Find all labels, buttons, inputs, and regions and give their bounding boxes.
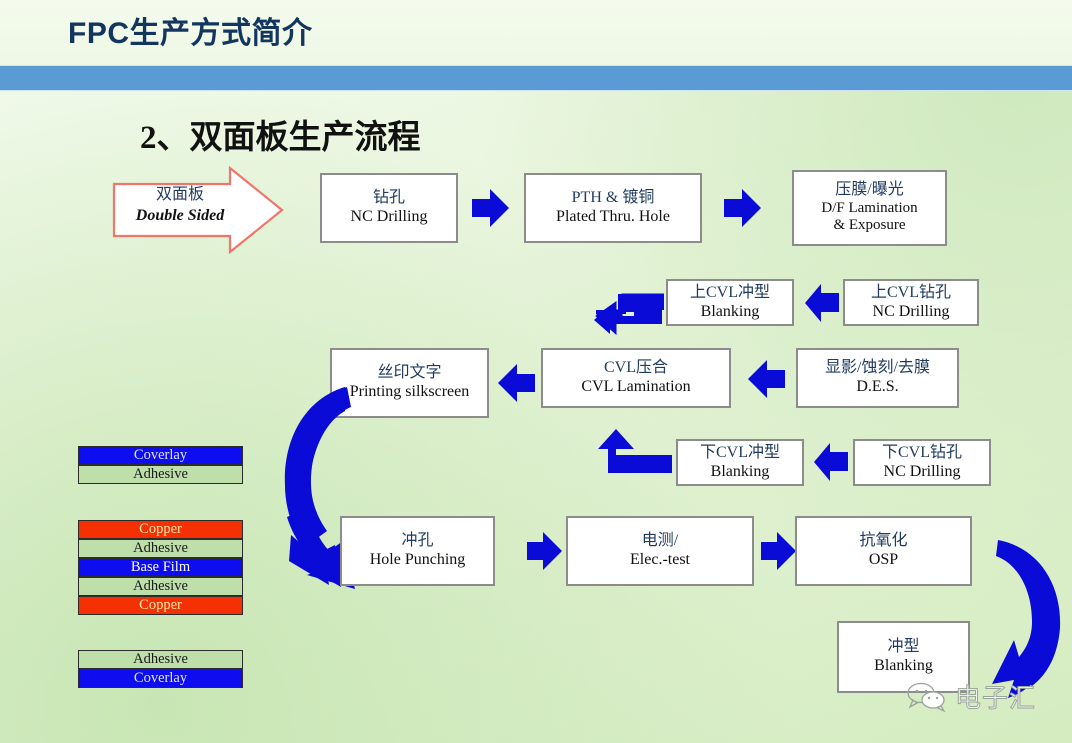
- step-label-en: NC Drilling: [884, 463, 961, 482]
- step-label-en: Blanking: [711, 463, 770, 482]
- step-nc-drilling[interactable]: 钻孔 NC Drilling: [320, 173, 458, 243]
- step-label-cn: 显影/蚀刻/去膜: [825, 359, 930, 378]
- step-lower-cvl-blanking[interactable]: 下CVL冲型 Blanking: [676, 439, 804, 486]
- step-label-en: D.E.S.: [856, 378, 898, 397]
- arrow-left-4: [812, 441, 852, 483]
- layer-stack-top-group: Coverlay Adhesive: [78, 446, 243, 484]
- step-lower-cvl-nc-drilling[interactable]: 下CVL钻孔 NC Drilling: [853, 439, 991, 486]
- arrow-right-2: [720, 186, 764, 230]
- step-label-en: Elec.-test: [630, 551, 690, 570]
- start-arrow-label-en: Double Sided: [120, 207, 240, 225]
- step-label-cn: 电测/: [642, 532, 678, 551]
- step-label-cn: 丝印文字: [377, 364, 441, 383]
- step-label-cn: 钻孔: [373, 189, 405, 208]
- arrow-right-4: [757, 529, 799, 573]
- arrow-left-2: [495, 361, 539, 405]
- header-accent-bar: [0, 66, 1072, 90]
- layer-item: Adhesive: [78, 650, 243, 669]
- step-elec-test[interactable]: 电测/ Elec.-test: [566, 516, 754, 586]
- step-label-cn: 上CVL钻孔: [871, 284, 951, 303]
- step-label-cn: 压膜/曝光: [835, 181, 903, 200]
- step-label-cn: 下CVL钻孔: [882, 444, 962, 463]
- step-cvl-lamination[interactable]: CVL压合 CVL Lamination: [541, 348, 731, 408]
- arrow-elbow-down-left-shape: [592, 290, 666, 338]
- step-label-en: Plated Thru. Hole: [556, 208, 670, 227]
- step-des[interactable]: 显影/蚀刻/去膜 D.E.S.: [796, 348, 959, 408]
- step-label-cn: 冲型: [887, 638, 919, 657]
- layer-item: Adhesive: [78, 539, 243, 558]
- step-hole-punching[interactable]: 冲孔 Hole Punching: [340, 516, 495, 586]
- layer-item: Copper: [78, 596, 243, 615]
- wechat-icon: [905, 682, 951, 712]
- layer-stack-bottom-group: Adhesive Coverlay: [78, 650, 243, 688]
- step-label-en: CVL Lamination: [581, 378, 690, 397]
- arrow-curve-right-down: [962, 540, 1070, 700]
- section-heading: 2、双面板生产流程: [140, 110, 421, 158]
- step-upper-cvl-blanking[interactable]: 上CVL冲型 Blanking: [666, 279, 794, 326]
- arrow-left-3: [745, 357, 789, 401]
- step-upper-cvl-nc-drilling[interactable]: 上CVL钻孔 NC Drilling: [843, 279, 979, 326]
- step-label-cn: PTH & 镀铜: [572, 189, 655, 208]
- step-label-en: NC Drilling: [873, 303, 950, 322]
- watermark: 电子汇: [905, 678, 1036, 715]
- layer-item: Coverlay: [78, 669, 243, 688]
- start-arrow-double-sided: 双面板 Double Sided: [112, 166, 284, 254]
- layer-item: Adhesive: [78, 465, 243, 484]
- step-label-en: Blanking: [874, 657, 933, 676]
- start-arrow-label: 双面板 Double Sided: [120, 180, 240, 225]
- layer-item: Coverlay: [78, 446, 243, 465]
- layer-item: Base Film: [78, 558, 243, 577]
- step-label-en: Blanking: [701, 303, 760, 322]
- arrow-elbow-up-left: [594, 427, 674, 477]
- arrow-left-1: [803, 282, 843, 324]
- page-title-latin: FPC: [68, 17, 130, 50]
- layer-item: Copper: [78, 520, 243, 539]
- arrow-right-3: [523, 529, 565, 573]
- page-title: FPC生产方式简介: [68, 8, 313, 52]
- step-label-en: OSP: [869, 551, 898, 570]
- step-label-en: NC Drilling: [351, 208, 428, 227]
- step-label-cn: 上CVL冲型: [690, 284, 770, 303]
- step-label-en: D/F Lamination: [821, 200, 917, 218]
- step-df-lamination-exposure[interactable]: 压膜/曝光 D/F Lamination & Exposure: [792, 170, 947, 246]
- arrow-right-1: [468, 186, 512, 230]
- page-title-cn: 生产方式简介: [130, 17, 313, 50]
- layer-stack-middle-group: Copper Adhesive Base Film Adhesive Coppe…: [78, 520, 243, 615]
- step-osp[interactable]: 抗氧化 OSP: [795, 516, 972, 586]
- slide-canvas: FPC生产方式简介 2、双面板生产流程 双面板 Double Sided 钻孔 …: [0, 0, 1072, 743]
- step-label-cn: 抗氧化: [859, 532, 907, 551]
- step-label-en-2: & Exposure: [833, 217, 905, 235]
- layer-item: Adhesive: [78, 577, 243, 596]
- step-label-en: Hole Punching: [370, 551, 466, 570]
- step-label-cn: 下CVL冲型: [700, 444, 780, 463]
- step-plated-thru-hole[interactable]: PTH & 镀铜 Plated Thru. Hole: [524, 173, 702, 243]
- watermark-text: 电子汇: [955, 678, 1036, 715]
- start-arrow-label-cn: 双面板: [120, 180, 240, 204]
- step-label-cn: 冲孔: [401, 532, 433, 551]
- step-label-cn: CVL压合: [604, 359, 668, 378]
